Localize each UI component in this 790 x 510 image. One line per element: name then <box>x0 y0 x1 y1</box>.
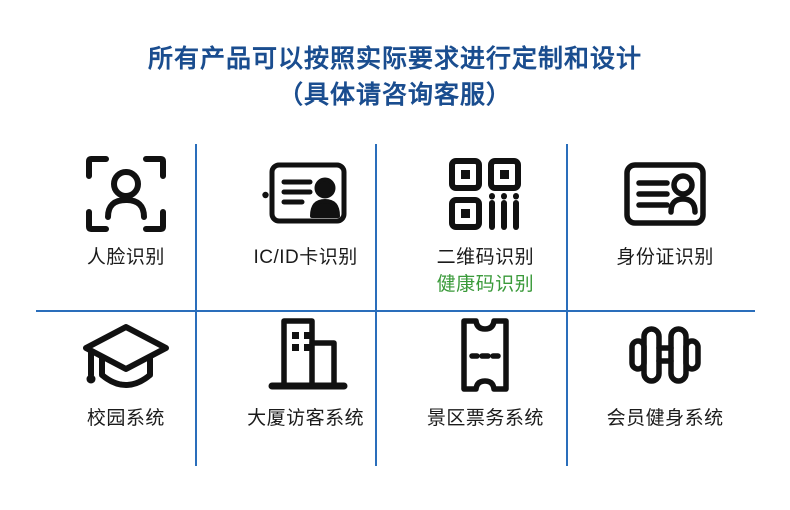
feature-label: 身份证识别 <box>616 245 714 272</box>
grid-divider-horizontal <box>36 310 755 312</box>
page-title-line-2: （具体请咨询客服） <box>0 78 790 114</box>
grid-divider-vertical <box>375 144 377 466</box>
feature-grid: 人脸识别 <box>36 144 755 466</box>
feature-grid-row: 人脸识别 <box>36 144 755 305</box>
qr-code-icon <box>446 146 524 242</box>
face-scan-icon <box>83 146 169 242</box>
feature-cell-labels: 大厦访客系统 <box>247 406 364 433</box>
feature-cell-qr-code-recognition[interactable]: 二维码识别 健康码识别 <box>396 144 576 305</box>
feature-grid-row: 校园系统 <box>36 305 755 466</box>
feature-cell-labels: 二维码识别 健康码识别 <box>437 245 535 299</box>
grid-divider-vertical <box>566 144 568 466</box>
office-building-icon <box>264 307 348 403</box>
feature-cell-labels: 会员健身系统 <box>607 406 724 433</box>
grid-divider-vertical <box>195 144 197 466</box>
feature-label: 校园系统 <box>87 406 165 433</box>
ticket-icon <box>450 307 520 403</box>
feature-cell-campus-system[interactable]: 校园系统 <box>36 305 216 466</box>
feature-cell-labels: IC/ID卡识别 <box>253 245 357 272</box>
feature-label: 景区票务系统 <box>427 406 544 433</box>
feature-cell-labels: 景区票务系统 <box>427 406 544 433</box>
feature-cell-scenic-ticketing-system[interactable]: 景区票务系统 <box>396 305 576 466</box>
graduation-cap-icon <box>80 307 172 403</box>
feature-label: IC/ID卡识别 <box>253 245 357 272</box>
identity-card-icon <box>619 146 711 242</box>
page-title: 所有产品可以按照实际要求进行定制和设计 （具体请咨询客服） <box>0 42 790 113</box>
feature-sublabel: 健康码识别 <box>437 272 535 299</box>
feature-cell-labels: 人脸识别 <box>87 245 165 272</box>
feature-cell-face-recognition[interactable]: 人脸识别 <box>36 144 216 305</box>
feature-cell-labels: 身份证识别 <box>616 245 714 272</box>
feature-label: 大厦访客系统 <box>247 406 364 433</box>
id-card-person-icon <box>260 146 352 242</box>
feature-cell-member-fitness-system[interactable]: 会员健身系统 <box>575 305 755 466</box>
dumbbell-icon <box>620 307 710 403</box>
feature-label: 会员健身系统 <box>607 406 724 433</box>
feature-cell-id-card-recognition[interactable]: 身份证识别 <box>575 144 755 305</box>
feature-cell-labels: 校园系统 <box>87 406 165 433</box>
feature-cell-ic-id-card-recognition[interactable]: IC/ID卡识别 <box>216 144 396 305</box>
feature-label: 二维码识别 <box>437 245 535 272</box>
feature-label: 人脸识别 <box>87 245 165 272</box>
product-capability-board: 所有产品可以按照实际要求进行定制和设计 （具体请咨询客服） <box>0 0 790 510</box>
page-title-line-1: 所有产品可以按照实际要求进行定制和设计 <box>0 42 790 78</box>
feature-cell-building-visitor-system[interactable]: 大厦访客系统 <box>216 305 396 466</box>
